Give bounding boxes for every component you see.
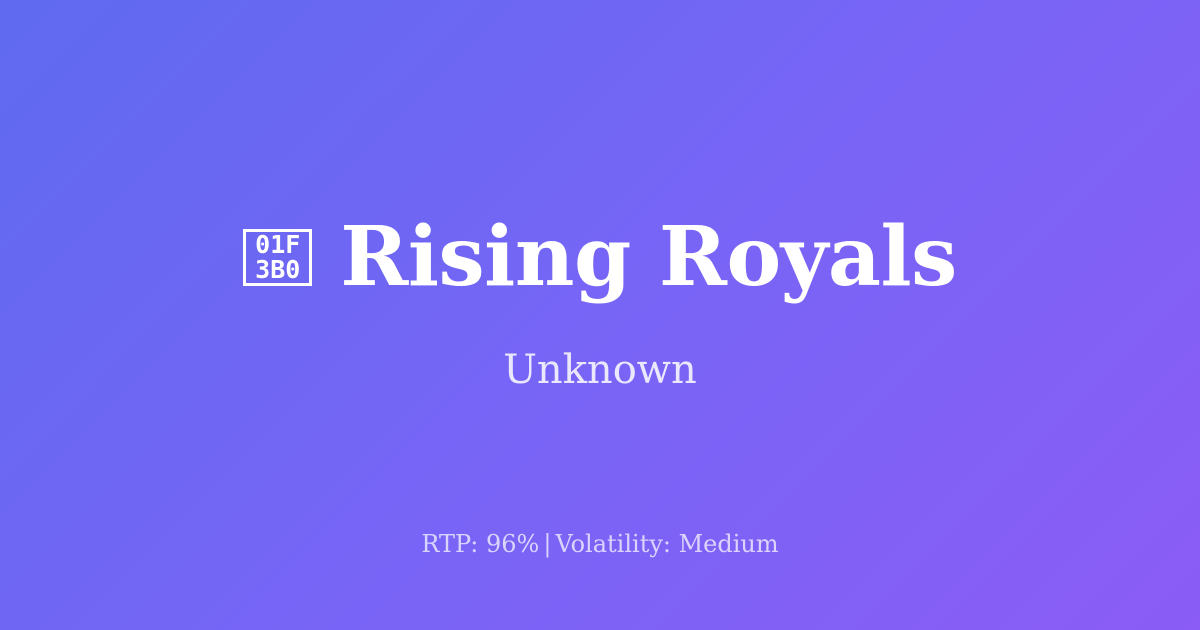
- og-share-card: 01F 3B0 Rising Royals Unknown RTP: 96%|V…: [0, 0, 1200, 630]
- slot-machine-emoji-icon: 01F 3B0: [243, 229, 312, 286]
- tofu-codepoint-bottom: 3B0: [255, 257, 300, 282]
- rtp-stat: RTP: 96%: [421, 530, 539, 558]
- stats-footer: RTP: 96%|Volatility: Medium: [0, 530, 1200, 559]
- page-title: Rising Royals: [340, 214, 957, 300]
- provider-label: Unknown: [503, 346, 697, 394]
- title-row: 01F 3B0 Rising Royals: [243, 214, 957, 300]
- volatility-stat: Volatility: Medium: [555, 530, 778, 558]
- tofu-codepoint-top: 01F: [255, 232, 300, 257]
- stat-separator: |: [539, 530, 555, 558]
